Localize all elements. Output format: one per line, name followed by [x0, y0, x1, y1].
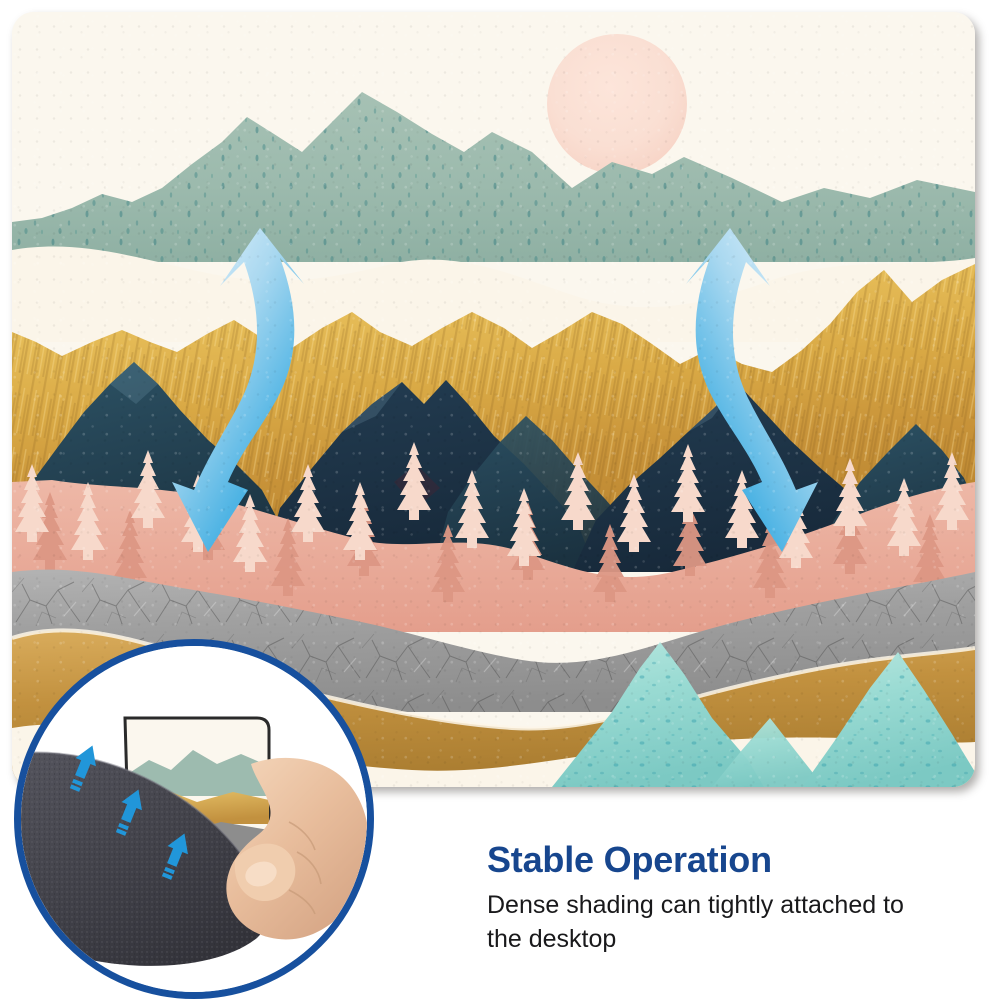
product-image-canvas: Stable Operation Dense shading can tight…	[0, 0, 1000, 1002]
caption-subline: Dense shading can tightly attached to th…	[487, 888, 932, 956]
caption-headline: Stable Operation	[487, 840, 957, 880]
curved-arrow-right	[686, 228, 818, 552]
caption-block: Stable Operation Dense shading can tight…	[487, 840, 957, 956]
grip-detail-photo	[21, 646, 367, 992]
curved-arrow-left	[172, 228, 304, 552]
grip-detail-circle	[14, 639, 374, 999]
